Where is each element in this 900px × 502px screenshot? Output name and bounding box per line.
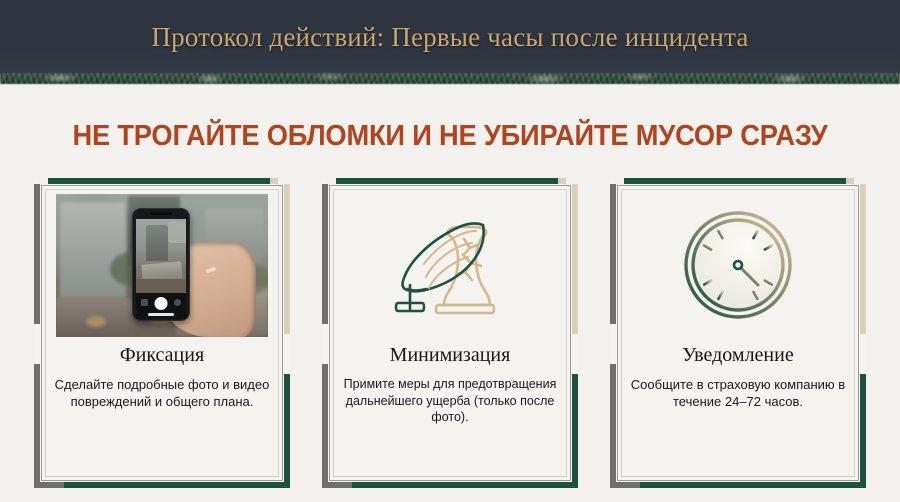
- card-accent-bar-bottom: [638, 482, 860, 488]
- card-accent-bar-bottom: [62, 482, 284, 488]
- photo-smartphone: [132, 208, 190, 321]
- phone-home-indicator: [148, 313, 174, 316]
- step-card-minimizaciya[interactable]: Минимизация Примите меры для предотвраще…: [322, 178, 578, 488]
- card-media-icon: [624, 192, 852, 338]
- card-media-photo: [48, 192, 276, 338]
- card-title: Минимизация: [390, 344, 511, 367]
- phone-flip-camera-icon: [174, 299, 181, 306]
- clock-icon: [679, 206, 797, 324]
- card-title: Фиксация: [120, 344, 204, 367]
- card-description: Сделайте подробные фото и видео поврежде…: [48, 376, 276, 411]
- phone-camera-viewfinder: [136, 219, 186, 293]
- page-header-title: Протокол действий: Первые часы после инц…: [151, 22, 748, 53]
- card-accent-bar-right-lower: [860, 374, 866, 488]
- card-accent-bar-right-lower: [572, 374, 578, 488]
- card-title: Уведомление: [682, 344, 793, 367]
- card-accent-bar-top-cap: [558, 178, 566, 184]
- page-headline: НЕ ТРОГАЙТЕ ОБЛОМКИ И НЕ УБИРАЙТЕ МУСОР …: [27, 120, 873, 153]
- card-accent-bar-left-lower: [34, 364, 40, 488]
- card-media-icon: [336, 192, 564, 338]
- steps-card-row: Фиксация Сделайте подробные фото и видео…: [0, 178, 900, 490]
- card-accent-bar-bottom-left-cap: [40, 482, 64, 488]
- cloth-cracked-vase-icon: [380, 205, 520, 325]
- phone-gallery-thumb-icon: [141, 299, 148, 306]
- phone-shutter-button-icon: [155, 297, 168, 310]
- phone-notch-icon: [150, 212, 172, 216]
- card-accent-bar-left-lower: [322, 364, 328, 488]
- cemetery-photo: [56, 194, 268, 337]
- card-accent-bar-bottom-left-cap: [328, 482, 352, 488]
- card-accent-bar-left-upper: [322, 184, 328, 324]
- card-accent-bar-top: [48, 178, 276, 184]
- card-body: Минимизация Примите меры для предотвраще…: [336, 192, 564, 474]
- step-card-uvedomlenie[interactable]: Уведомление Сообщите в страховую компани…: [610, 178, 866, 488]
- card-accent-bar-top: [336, 178, 564, 184]
- photo-leaf-b: [86, 316, 106, 327]
- card-accent-bar-right-upper: [284, 184, 290, 334]
- viewfinder-sky: [168, 221, 186, 243]
- card-body: Уведомление Сообщите в страховую компани…: [624, 192, 852, 474]
- card-accent-bar-bottom: [350, 482, 572, 488]
- card-body: Фиксация Сделайте подробные фото и видео…: [48, 192, 276, 474]
- clock-icon-wrap: [679, 206, 797, 324]
- card-accent-bar-left-upper: [610, 184, 616, 324]
- viewfinder-headstone: [146, 225, 168, 261]
- card-accent-bar-right-upper: [860, 184, 866, 334]
- card-accent-bar-top: [624, 178, 852, 184]
- card-accent-bar-bottom-left-cap: [616, 482, 640, 488]
- card-accent-bar-top-cap: [270, 178, 278, 184]
- photo-headstone-left: [60, 202, 126, 298]
- card-accent-bar-right-lower: [284, 374, 290, 488]
- card-accent-bar-top-cap: [846, 178, 854, 184]
- greenery-divider-strip: [0, 73, 900, 84]
- card-accent-bar-left-upper: [34, 184, 40, 324]
- viewfinder-ground: [136, 279, 186, 293]
- step-card-fiksaciya[interactable]: Фиксация Сделайте подробные фото и видео…: [34, 178, 290, 488]
- card-accent-bar-right-upper: [572, 184, 578, 334]
- card-accent-bar-left-lower: [610, 364, 616, 488]
- card-description: Сообщите в страховую компанию в течение …: [624, 376, 852, 411]
- card-description: Примите меры для предотвращения дальнейш…: [336, 376, 564, 426]
- page-header: Протокол действий: Первые часы после инц…: [0, 0, 900, 74]
